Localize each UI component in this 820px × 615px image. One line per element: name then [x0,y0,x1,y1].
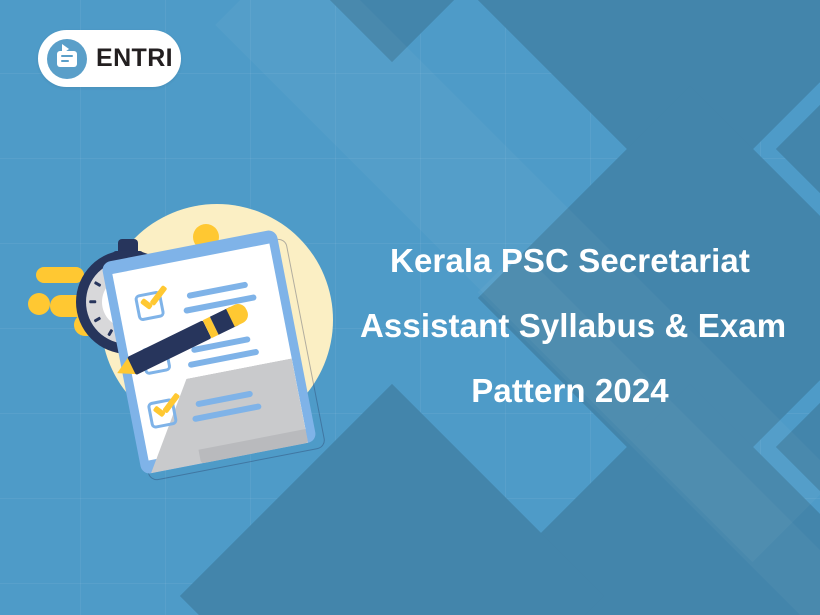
play-arrow-icon [62,44,69,54]
checklist-stopwatch-illustration [28,196,328,482]
background-diamond [776,235,820,615]
entri-e-mark-icon [47,39,87,79]
background-diamond [180,0,604,62]
clipboard-icon [101,229,317,475]
title-line-1: Kerala PSC Secretariat [360,228,780,293]
title-line-2: Assistant Syllabus & Exam [360,293,780,358]
stopwatch-tick [89,301,96,304]
yellow-dot [28,293,50,315]
title-line-3: Pattern 2024 [360,358,780,423]
background-diamond [478,0,820,212]
entri-logo[interactable]: ENTRI [38,30,181,87]
page-title: Kerala PSC Secretariat Assistant Syllabu… [360,228,780,423]
banner: ENTRI [0,0,820,615]
logo-wordmark: ENTRI [96,44,173,73]
